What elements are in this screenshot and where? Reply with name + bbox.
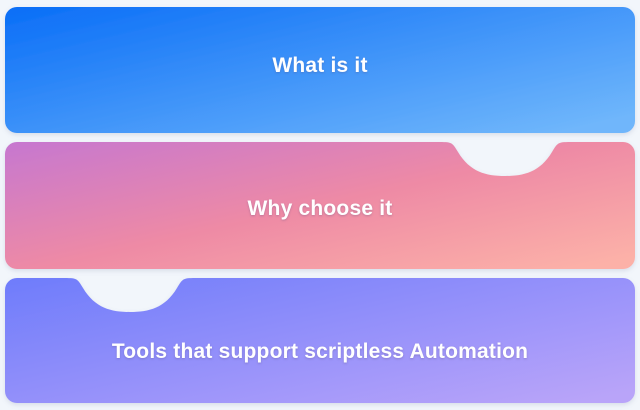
card-label-why-choose-it: Why choose it	[0, 197, 640, 221]
card-label-what-is-it: What is it	[0, 54, 640, 78]
card-label-tools-that-support-scriptless-automation: Tools that support scriptless Automation	[0, 340, 640, 364]
slide-canvas: What is it Why choose it Tools that supp…	[0, 0, 640, 410]
